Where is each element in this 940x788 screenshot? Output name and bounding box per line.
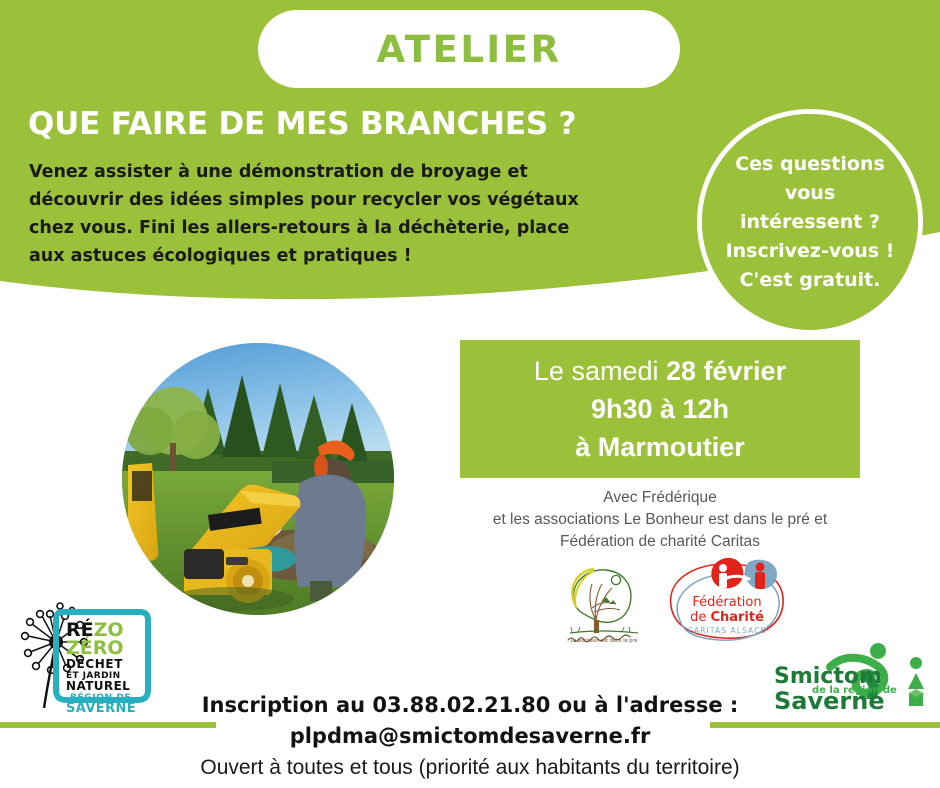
logo-le-bonheur-est-dans-le-pre: Le bonheur est dans le pré	[560, 562, 648, 644]
atelier-badge: ATELIER	[258, 10, 680, 88]
callout-line-4: C'est gratuit.	[740, 266, 881, 295]
inscription-email[interactable]: plpdma@smictomdesaverne.fr	[120, 721, 820, 752]
logo-bonheur-caption: Le bonheur est dans le pré	[571, 637, 638, 644]
caritas-line-1: Fédération	[692, 595, 761, 610]
page-title: QUE FAIRE DE MES BRANCHES ?	[28, 106, 576, 142]
callout-line-3: Inscrivez-vous !	[726, 237, 895, 266]
partners-line-2: et les associations Le Bonheur est dans …	[440, 509, 880, 531]
event-date-line: Le samedi 28 février	[534, 352, 786, 390]
partners-line-3: Fédération de charité Caritas	[440, 531, 880, 553]
logo-federation-de-charite-caritas: Fédération de Charité CARITAS ALSACE	[665, 556, 790, 644]
partners-line-1: Avec Frédérique	[440, 487, 880, 509]
event-date-value: 28 février	[666, 356, 786, 386]
inscription-phone-line: Inscription au 03.88.02.21.80 ou à l'adr…	[120, 690, 820, 721]
rezo-line-3: DÉCHET	[66, 656, 123, 671]
caritas-line-2: de Charité	[690, 610, 764, 625]
caritas-line-3: CARITAS ALSACE	[688, 626, 767, 635]
photo-broyage	[122, 343, 394, 615]
event-place: à Marmoutier	[575, 428, 745, 466]
callout-line-1: Ces questions vous	[710, 150, 910, 208]
atelier-badge-label: ATELIER	[377, 28, 562, 71]
event-date-prefix: Le samedi	[534, 356, 666, 386]
partners-text: Avec Frédérique et les associations Le B…	[440, 487, 880, 553]
callout-line-2: intéressent ?	[740, 208, 880, 237]
intro-paragraph: Venez assister à une démonstration de br…	[29, 158, 589, 270]
event-time: 9h30 à 12h	[591, 390, 729, 428]
inscription-info: Inscription au 03.88.02.21.80 ou à l'adr…	[120, 690, 820, 752]
rezo-line-2: ZÉRO	[66, 636, 124, 659]
poster: ATELIER QUE FAIRE DE MES BRANCHES ? Vene…	[0, 0, 940, 788]
event-date-box: Le samedi 28 février 9h30 à 12h à Marmou…	[460, 340, 860, 478]
callout-inscription: Ces questions vous intéressent ? Inscriv…	[702, 114, 918, 330]
open-to-all-note: Ouvert à toutes et tous (priorité aux ha…	[80, 754, 860, 782]
